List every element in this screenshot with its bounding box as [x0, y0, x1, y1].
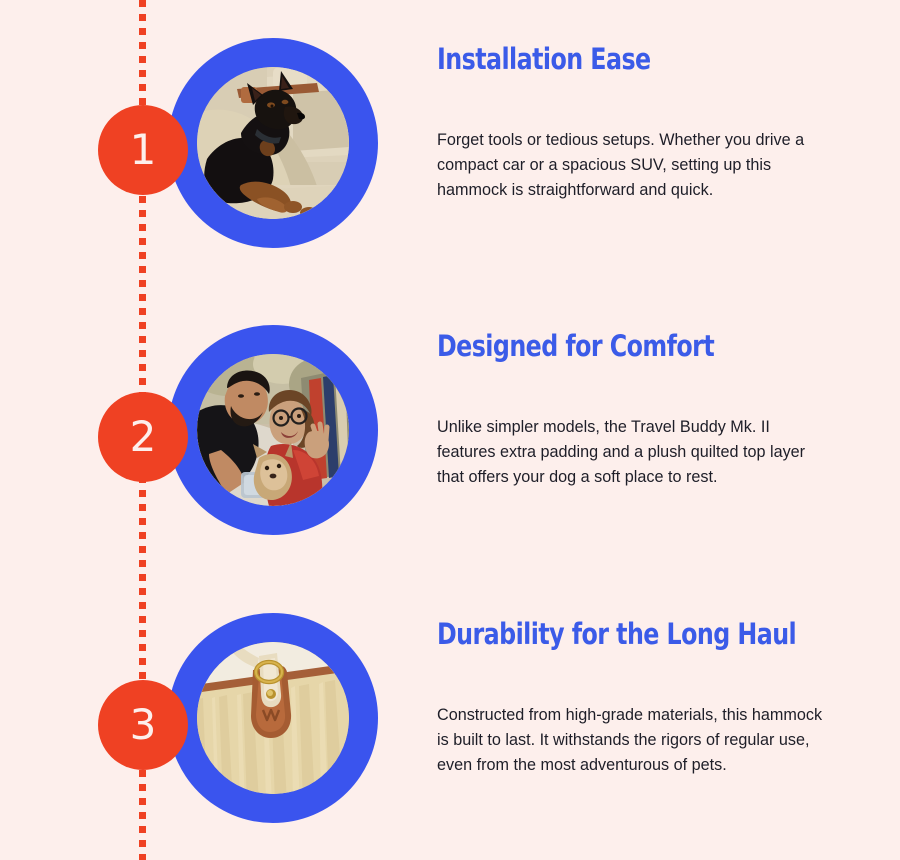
- step-number-label: 2: [130, 416, 157, 458]
- step-text-column: Durability for the Long Haul Constructed…: [437, 618, 837, 777]
- photo-ring: [168, 613, 378, 823]
- step-description: Constructed from high-grade materials, t…: [437, 703, 829, 777]
- steps-infographic: 1 Installation Ease Forget tools or tedi…: [0, 0, 900, 860]
- photo-ring: [168, 325, 378, 535]
- photo-ring: [168, 38, 378, 248]
- step-text-column: Designed for Comfort Unlike simpler mode…: [437, 330, 837, 489]
- step-number-label: 1: [130, 129, 157, 171]
- step-title: Installation Ease: [437, 43, 765, 76]
- step-photo-1: [197, 67, 349, 219]
- step-number-badge: 1: [98, 105, 188, 195]
- step-description: Unlike simpler models, the Travel Buddy …: [437, 415, 829, 489]
- step-title: Designed for Comfort: [437, 330, 765, 363]
- step-photo-2: [197, 354, 349, 506]
- step-number-badge: 2: [98, 392, 188, 482]
- step-description: Forget tools or tedious setups. Whether …: [437, 128, 829, 202]
- step-title: Durability for the Long Haul: [437, 618, 765, 651]
- step-photo-3: [197, 642, 349, 794]
- step-text-column: Installation Ease Forget tools or tediou…: [437, 43, 837, 202]
- step-number-badge: 3: [98, 680, 188, 770]
- step-number-label: 3: [130, 704, 157, 746]
